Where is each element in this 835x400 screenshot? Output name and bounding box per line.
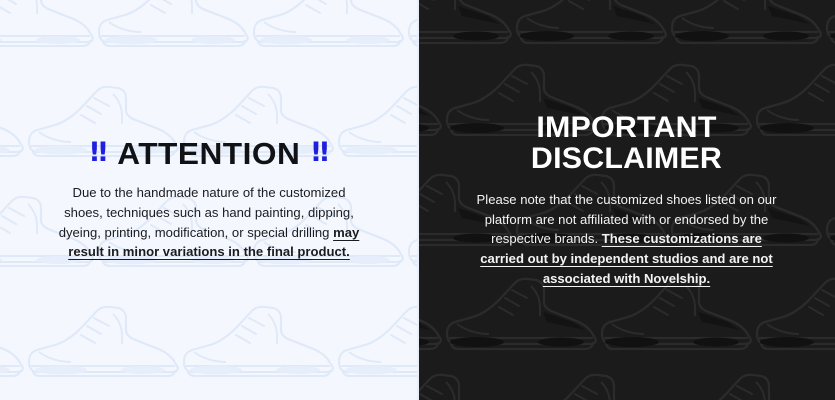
disclaimer-headline-line1: IMPORTANT — [430, 112, 822, 144]
attention-body-plain: Due to the handmade nature of the custom… — [59, 185, 354, 240]
disclaimer-headline: IMPORTANT DISCLAIMER — [430, 112, 822, 175]
disclaimer-body: Please note that the customized shoes li… — [468, 190, 786, 288]
customization-disclaimer-banner: ‼ ATTENTION ‼ Due to the handmade nature… — [0, 0, 835, 400]
double-exclamation-icon-right: ‼ — [312, 139, 328, 166]
attention-panel: ‼ ATTENTION ‼ Due to the handmade nature… — [0, 0, 418, 400]
attention-body: Due to the handmade nature of the custom… — [54, 183, 364, 263]
disclaimer-content: IMPORTANT DISCLAIMER Please note that th… — [418, 112, 835, 288]
attention-content: ‼ ATTENTION ‼ Due to the handmade nature… — [0, 138, 418, 263]
double-exclamation-icon-left: ‼ — [90, 139, 106, 166]
attention-headline-word: ATTENTION — [117, 138, 300, 169]
disclaimer-headline-line2: DISCLAIMER — [430, 143, 822, 175]
attention-headline: ‼ ATTENTION ‼ — [40, 138, 378, 169]
disclaimer-panel: IMPORTANT DISCLAIMER Please note that th… — [418, 0, 835, 400]
panel-divider — [417, 0, 419, 400]
